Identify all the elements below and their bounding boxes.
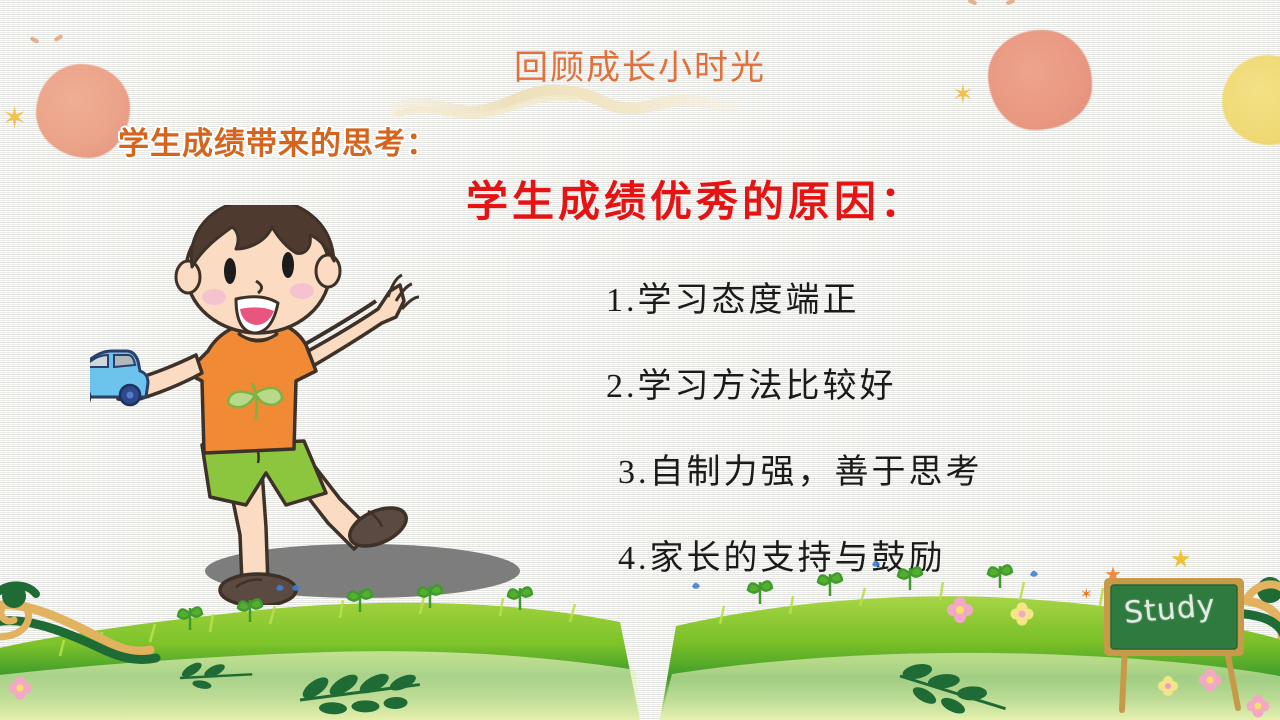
reason-title: 学生成绩优秀的原因： xyxy=(466,168,926,229)
page-title: 回顾成长小时光 xyxy=(0,40,1280,89)
confetti-dash-icon xyxy=(968,0,978,6)
sparkle-star-icon: ★ xyxy=(1170,548,1192,572)
subheading: 学生成绩带来的思考： xyxy=(118,118,438,163)
list-item: 1.学习态度端正 xyxy=(606,272,1126,321)
list-item: 2.学习方法比较好 xyxy=(606,358,1126,407)
sparkle-star-icon: ✶ xyxy=(2,104,27,134)
sparkle-star-icon: ✶ xyxy=(1080,588,1093,603)
left-swirl-ornament-icon xyxy=(0,578,172,688)
confetti-dash-icon xyxy=(1006,0,1016,5)
sparkle-star-icon: ★ xyxy=(1104,565,1122,585)
list-item: 3.自制力强，善于思考 xyxy=(606,444,1126,493)
slide-canvas: ✶ ✶ 回顾成长小时光 学生成绩带来的思考： 学生成绩优秀的原因： 1.学习态度… xyxy=(0,0,1280,720)
